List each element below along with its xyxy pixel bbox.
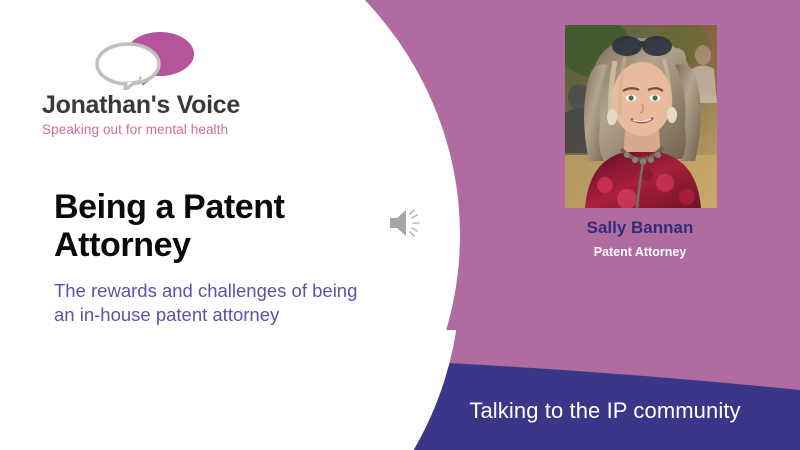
jonathans-voice-logo: Jonathan's Voice Speaking out for mental… [42, 28, 242, 137]
speaker-photo [565, 25, 717, 208]
speech-bubbles-icon [90, 28, 220, 90]
speaker-audio-icon[interactable] [388, 206, 424, 240]
speaker-role: Patent Attorney [520, 245, 760, 259]
panel-banner-overlap [0, 330, 470, 450]
speaker-name: Sally Bannan [520, 218, 760, 238]
title-block: Being a Patent Attorney The rewards and … [54, 188, 364, 328]
gray-speech-bubble-icon [97, 44, 159, 90]
logo-tagline-text: Speaking out for mental health [42, 122, 242, 137]
banner-text: Talking to the IP community [430, 398, 780, 424]
logo-name-text: Jonathan's Voice [42, 92, 242, 118]
slide-subtitle: The rewards and challenges of being an i… [54, 279, 364, 328]
slide-title: Being a Patent Attorney [54, 188, 364, 265]
presentation-slide: Jonathan's Voice Speaking out for mental… [0, 0, 800, 450]
